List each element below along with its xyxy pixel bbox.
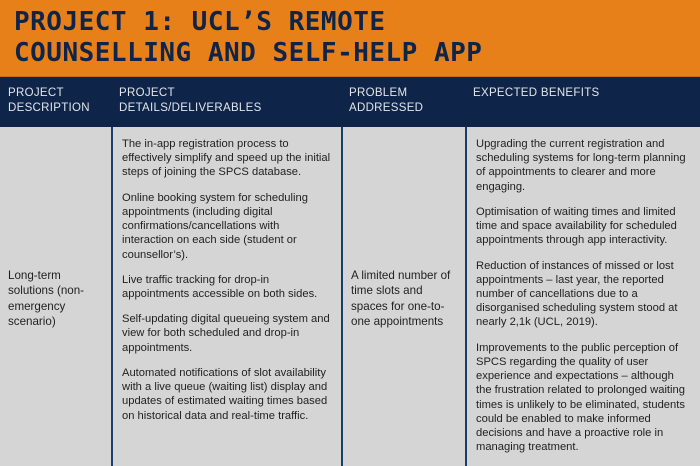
- cell-problem-addressed: A limited number of time slots and space…: [341, 127, 465, 466]
- table-header-row: Project description Project details/deli…: [0, 76, 700, 127]
- cell-expected-benefits: Upgrading the current registration and s…: [465, 127, 700, 466]
- expected-benefits-item: Upgrading the current registration and s…: [476, 137, 691, 194]
- slide-root: Project 1: UCL’s remote counselling and …: [0, 0, 700, 466]
- table-row: Long-term solutions (non-emergency scena…: [0, 127, 700, 466]
- project-description-text: Long-term solutions (non-emergency scena…: [8, 268, 107, 328]
- expected-benefits-item: Reduction of instances of missed or lost…: [476, 259, 691, 330]
- cell-project-description: Long-term solutions (non-emergency scena…: [0, 127, 111, 466]
- cell-project-details: The in-app registration process to effec…: [111, 127, 341, 466]
- slide-title: Project 1: UCL’s remote counselling and …: [0, 7, 482, 68]
- column-header-project-description: Project description: [0, 77, 111, 127]
- project-details-item: Self-updating digital queueing system an…: [122, 312, 332, 355]
- column-header-problem-addressed: Problem addressed: [341, 77, 465, 127]
- column-header-expected-benefits: Expected benefits: [465, 77, 700, 127]
- project-details-item: Automated notifications of slot availabi…: [122, 366, 332, 423]
- title-banner: Project 1: UCL’s remote counselling and …: [0, 0, 700, 76]
- project-details-item: Online booking system for scheduling app…: [122, 191, 332, 262]
- expected-benefits-item: Improvements to the public perception of…: [476, 341, 691, 455]
- column-header-project-details: Project details/deliverables: [111, 77, 341, 127]
- expected-benefits-item: Optimisation of waiting times and limite…: [476, 205, 691, 248]
- project-table: Project description Project details/deli…: [0, 76, 700, 466]
- project-details-item: Live traffic tracking for drop-in appoin…: [122, 273, 332, 301]
- problem-addressed-text: A limited number of time slots and space…: [351, 268, 459, 328]
- project-details-item: The in-app registration process to effec…: [122, 137, 332, 180]
